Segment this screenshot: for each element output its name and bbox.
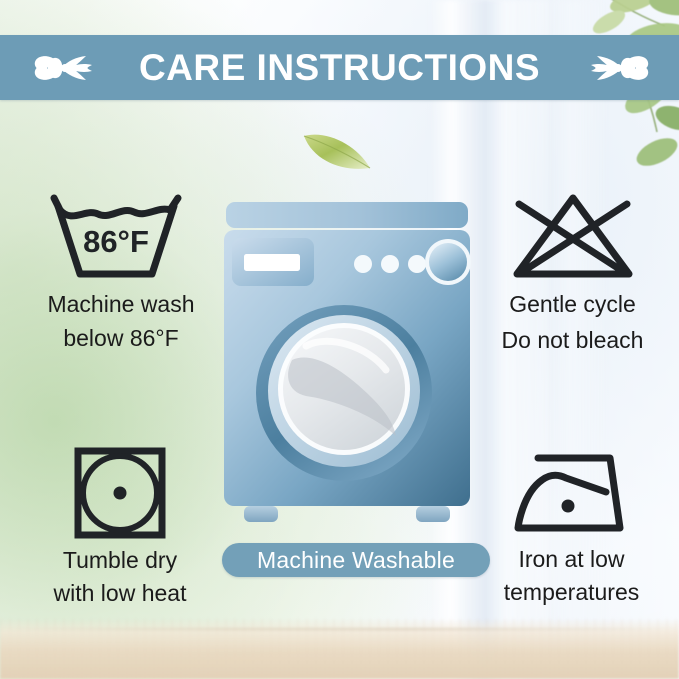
machine-washable-badge: Machine Washable xyxy=(222,543,490,577)
page-title: CARE INSTRUCTIONS xyxy=(139,49,540,86)
instruction-caption-line1: Iron at low xyxy=(518,546,624,573)
washing-machine-illustration xyxy=(222,200,472,545)
detergent-drawer-slot xyxy=(244,254,300,271)
wash-tub-icon: 86°F xyxy=(46,192,196,284)
control-knob[interactable] xyxy=(429,243,467,281)
instruction-iron: Iron at low temperatures xyxy=(468,448,675,606)
control-button[interactable] xyxy=(354,255,372,273)
fleur-de-lis-icon xyxy=(587,43,651,93)
triangle-crossed-out-icon xyxy=(505,190,641,282)
instruction-caption-line1: Tumble dry xyxy=(63,547,177,574)
instruction-caption-line2: temperatures xyxy=(504,579,640,606)
instruction-do-not-bleach: Gentle cycle Do not bleach xyxy=(470,190,675,354)
instruction-caption-line2: with low heat xyxy=(54,580,187,607)
care-instructions-infographic: CARE INSTRUCTIONS 86°F Machine wash belo… xyxy=(0,0,679,679)
wash-temperature-value: 86°F xyxy=(83,224,149,259)
instruction-caption-line1: Machine wash xyxy=(47,291,194,318)
machine-top-lid xyxy=(226,202,468,228)
tumble-dry-low-heat-icon xyxy=(72,445,168,541)
header-banner: CARE INSTRUCTIONS xyxy=(0,35,679,100)
fleur-de-lis-icon xyxy=(32,43,96,93)
floating-leaf-icon xyxy=(298,120,376,178)
instruction-caption-line1: Gentle cycle xyxy=(509,291,636,318)
control-button[interactable] xyxy=(408,255,426,273)
machine-foot-left xyxy=(244,506,278,522)
instruction-caption-line2: Do not bleach xyxy=(502,327,644,354)
instruction-machine-wash: 86°F Machine wash below 86°F xyxy=(14,192,228,352)
badge-label: Machine Washable xyxy=(257,549,455,572)
instruction-tumble-dry: Tumble dry with low heat xyxy=(16,445,224,607)
instruction-caption-line2: below 86°F xyxy=(63,325,178,352)
iron-low-temperature-icon xyxy=(508,448,636,540)
machine-foot-right xyxy=(416,506,450,522)
background-wood-surface xyxy=(0,619,679,679)
control-button[interactable] xyxy=(381,255,399,273)
